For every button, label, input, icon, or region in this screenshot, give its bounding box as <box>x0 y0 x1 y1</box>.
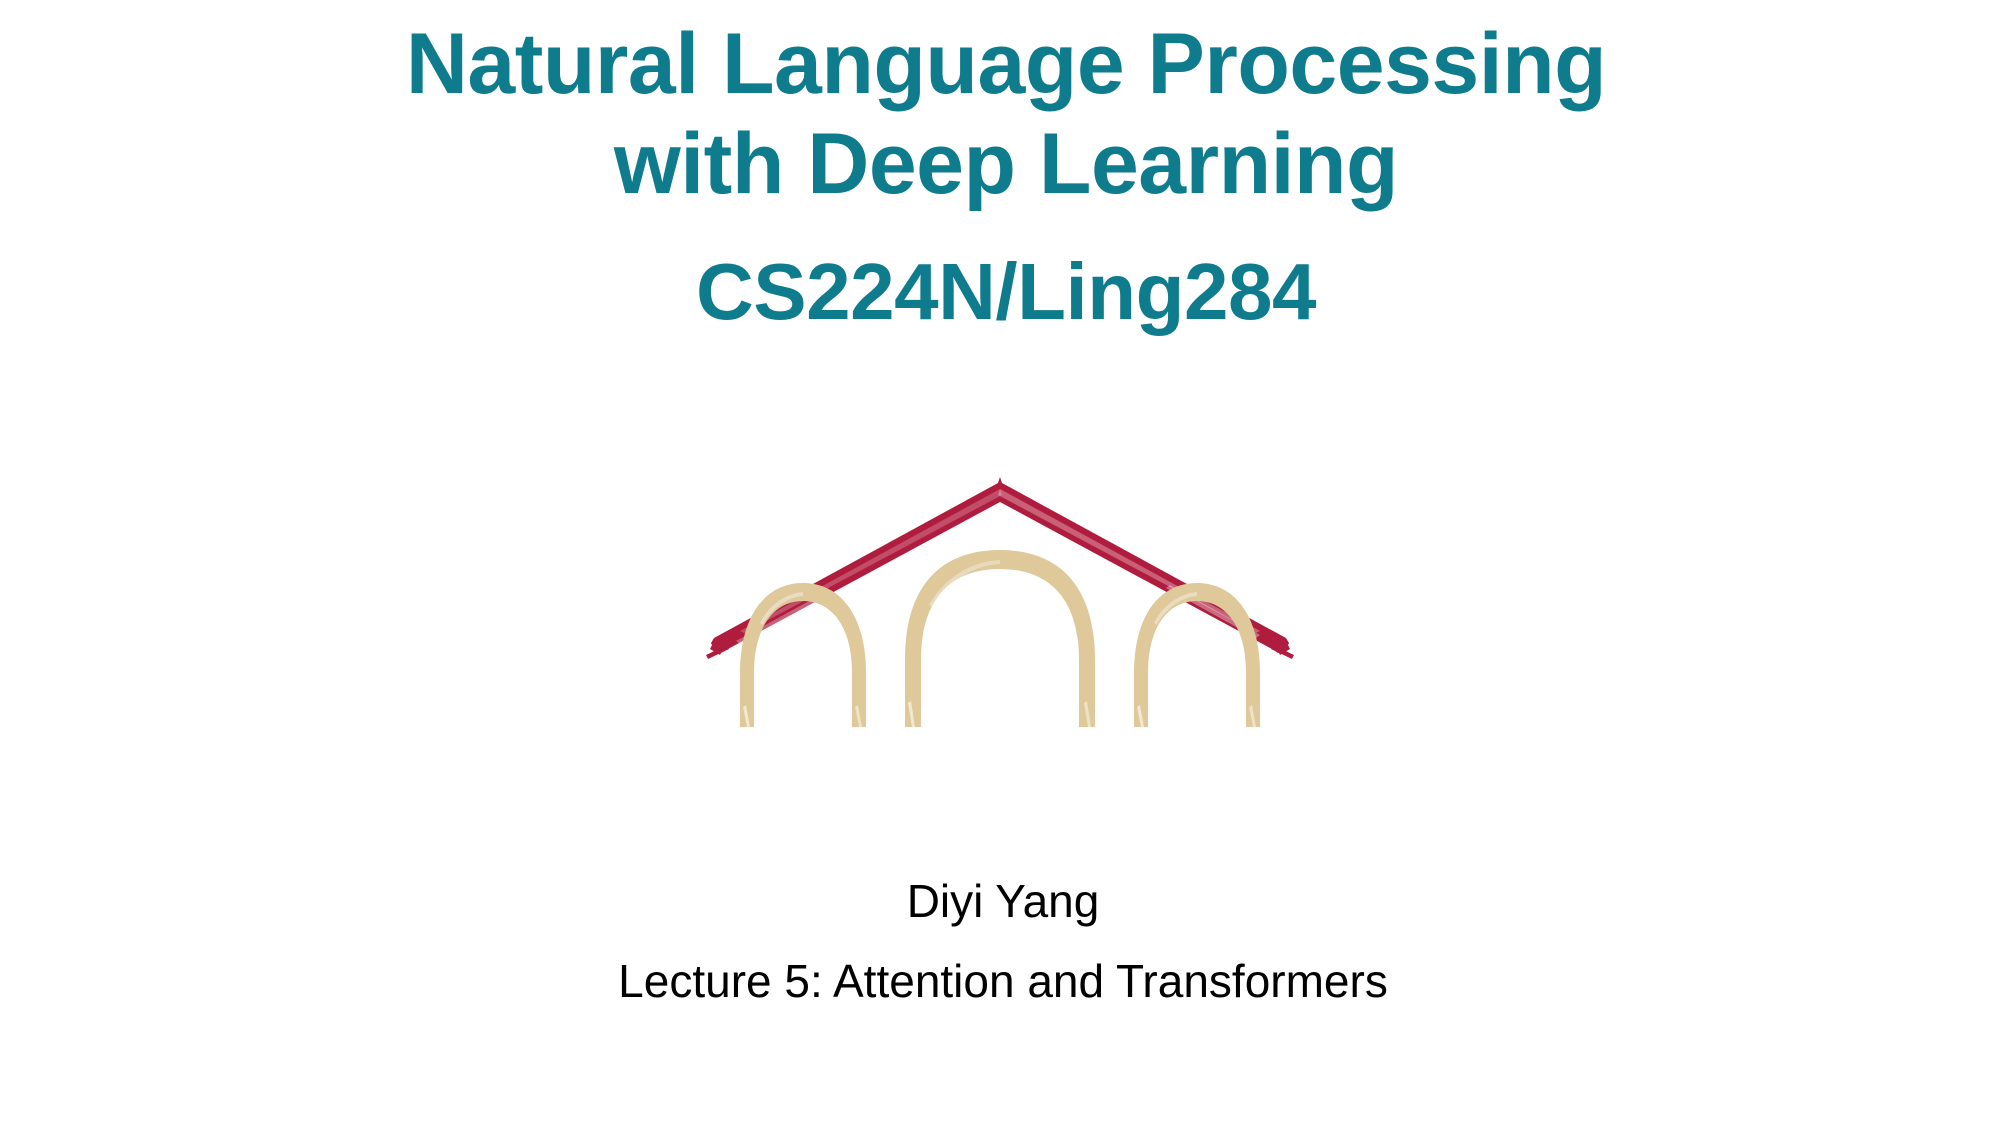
arch-center-icon <box>905 550 1095 727</box>
title-line-1: Natural Language Processing <box>0 14 2000 114</box>
title-line-2: with Deep Learning <box>0 114 2000 214</box>
course-code-line: CS224N/Ling284 <box>0 242 2000 342</box>
slide-canvas: Natural Language Processing with Deep Le… <box>0 0 2000 1125</box>
lecture-subtitle: Lecture 5: Attention and Transformers <box>0 952 2000 1010</box>
stanford-logo <box>700 455 1300 730</box>
slide-title-block: Natural Language Processing with Deep Le… <box>0 14 2000 342</box>
presenter-name: Diyi Yang <box>0 872 2000 930</box>
byline-block: Diyi Yang Lecture 5: Attention and Trans… <box>0 872 2000 1010</box>
stanford-logo-graphic <box>700 455 1300 730</box>
